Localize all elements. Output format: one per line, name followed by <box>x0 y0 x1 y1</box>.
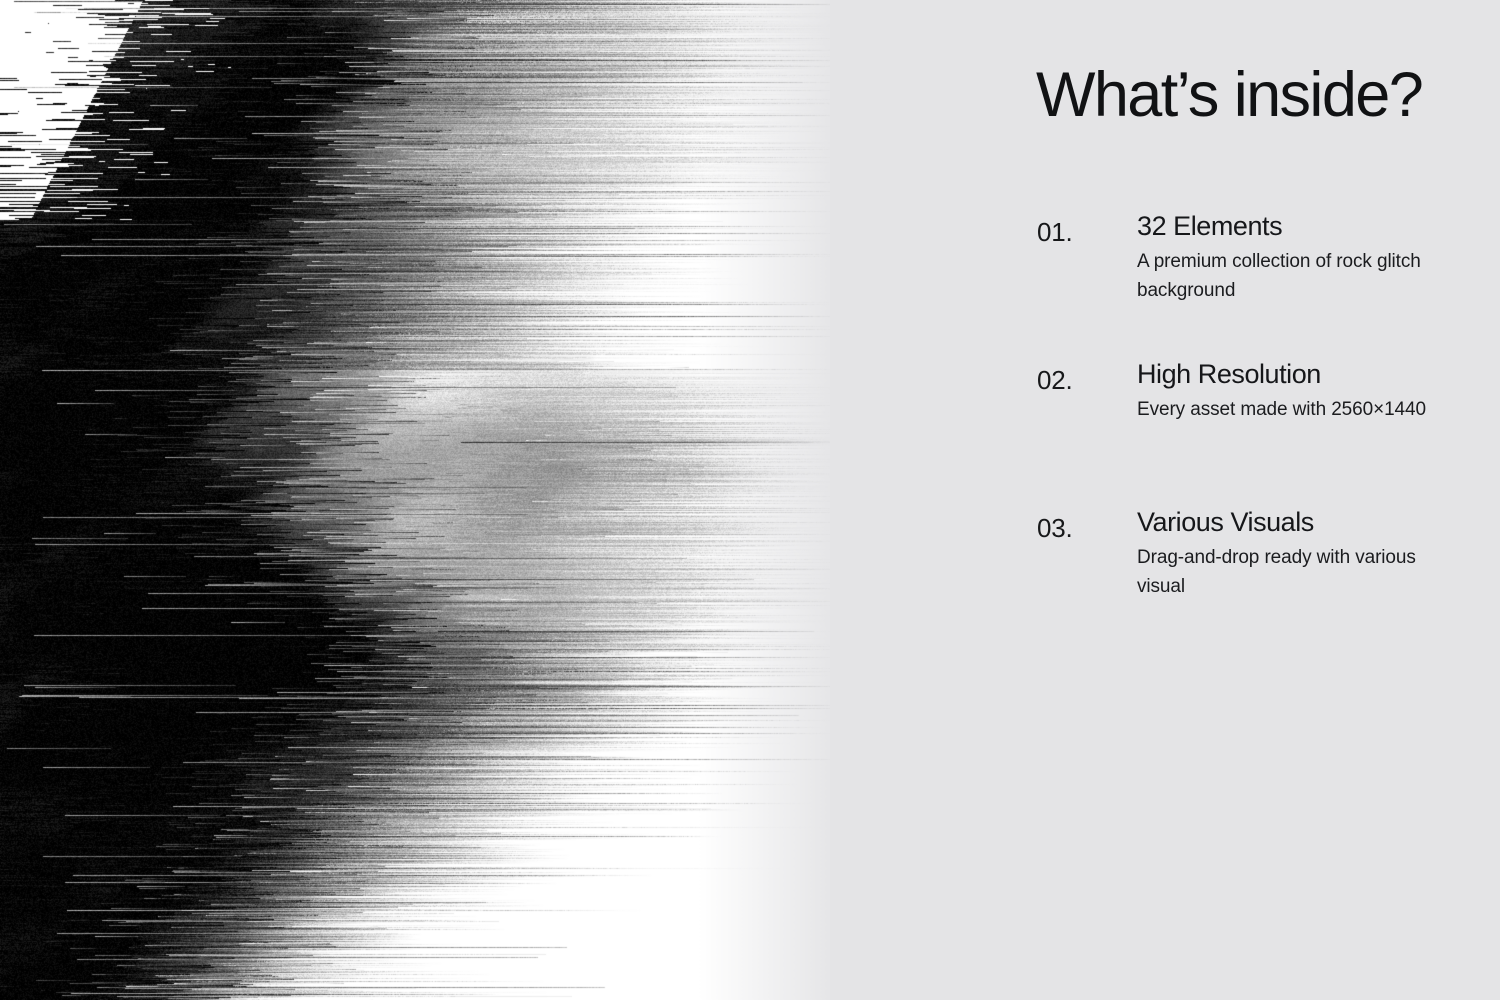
feature-heading: High Resolution <box>1137 359 1476 391</box>
feature-description: Every asset made with 2560×1440 <box>1137 395 1467 424</box>
feature-index: 03. <box>1037 513 1073 544</box>
feature-item: 03. Various Visuals Drag-and-drop ready … <box>1036 503 1476 601</box>
feature-body: 32 Elements A premium collection of rock… <box>1137 207 1476 305</box>
feature-index: 01. <box>1037 217 1073 248</box>
slide-root: What’s inside? 01. 32 Elements A premium… <box>0 0 1500 1000</box>
feature-heading: Various Visuals <box>1137 507 1476 539</box>
content-column: What’s inside? 01. 32 Elements A premium… <box>1036 0 1476 1000</box>
feature-description: Drag-and-drop ready with various visual <box>1137 543 1467 602</box>
feature-description: A premium collection of rock glitch back… <box>1137 247 1467 306</box>
rock-glitch-artwork <box>0 0 830 1000</box>
feature-index: 02. <box>1037 365 1073 396</box>
feature-item: 01. 32 Elements A premium collection of … <box>1036 207 1476 355</box>
page-title: What’s inside? <box>1036 62 1422 128</box>
feature-list: 01. 32 Elements A premium collection of … <box>1036 207 1476 601</box>
feature-item: 02. High Resolution Every asset made wit… <box>1036 355 1476 503</box>
glitch-artwork-canvas <box>0 0 830 1000</box>
feature-body: High Resolution Every asset made with 25… <box>1137 355 1476 424</box>
feature-heading: 32 Elements <box>1137 211 1476 243</box>
feature-body: Various Visuals Drag-and-drop ready with… <box>1137 503 1476 601</box>
